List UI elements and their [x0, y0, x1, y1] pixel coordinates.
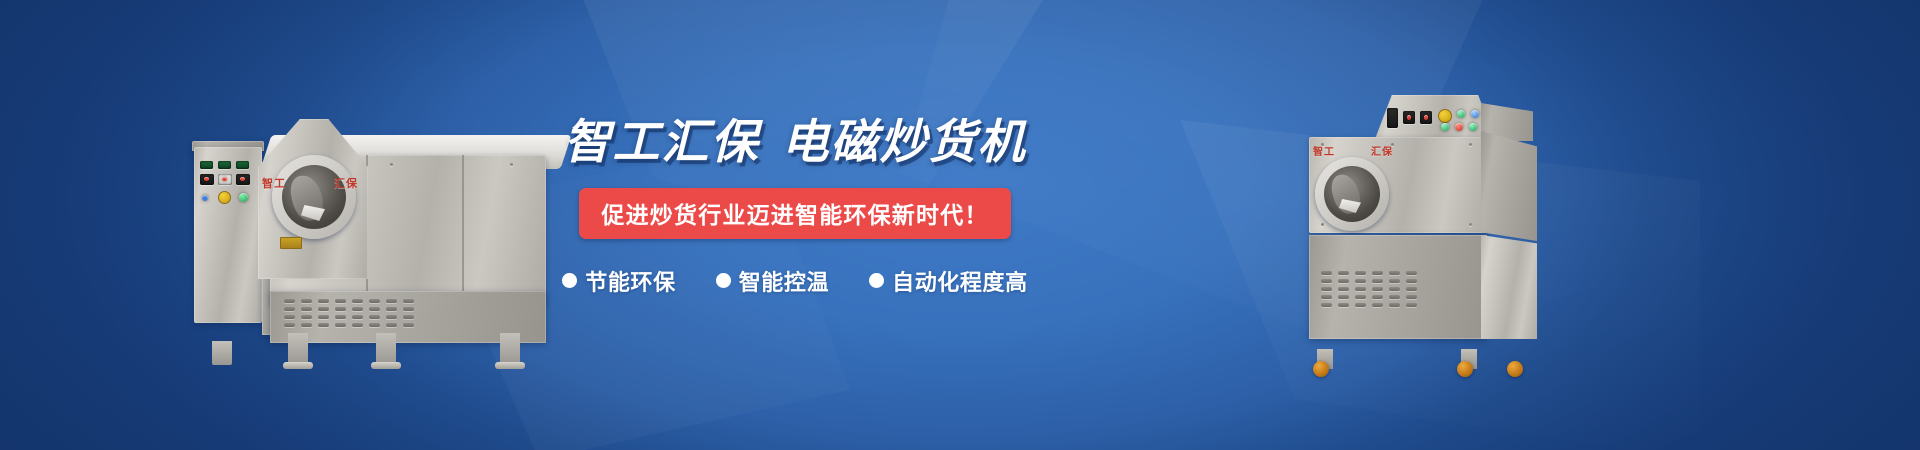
right-button-green-3[interactable]: [1469, 123, 1477, 131]
left-machine-nameplate: [280, 237, 302, 249]
left-meter-2-led: [222, 177, 227, 181]
slogan-row: 促进炒货行业迈进智能环保新时代！: [560, 188, 1030, 239]
right-button-blue-1[interactable]: [1471, 110, 1479, 118]
left-start-button[interactable]: [239, 193, 248, 202]
left-cabinet-leg: [212, 341, 232, 365]
right-display-1-led: [1407, 115, 1411, 120]
right-caster-1: [1313, 361, 1329, 377]
left-indicator-blue: [202, 195, 208, 201]
left-emergency-knob[interactable]: [218, 191, 231, 204]
left-leg-3: [500, 333, 520, 365]
left-meter-2: [218, 174, 232, 185]
slogan-pill: 促进炒货行业迈进智能环保新时代！: [579, 188, 1010, 239]
left-foot-3: [495, 362, 525, 369]
left-machine-brand-left: 智工: [262, 175, 286, 191]
feature-item-temperature: 智能控温: [716, 265, 829, 297]
right-caster-3: [1507, 361, 1523, 377]
left-control-cabinet: [194, 147, 262, 323]
headline-product: 电磁炒货机: [782, 115, 1027, 168]
left-vent-grille: [284, 299, 414, 327]
right-vent-grille: [1321, 271, 1417, 307]
headline-brand: 智工汇保: [564, 115, 760, 168]
left-foot-2: [371, 362, 401, 369]
left-machine-brand-right: 汇保: [334, 175, 358, 191]
banner-copy-block: 智工汇保电磁炒货机 促进炒货行业迈进智能环保新时代！ 节能环保 智能控温 自动化…: [560, 118, 1030, 297]
feature-label-energy: 节能环保: [585, 265, 675, 297]
left-meter-1: [200, 174, 214, 185]
product-image-left-roaster: 许昌智工 智工 汇保: [170, 95, 590, 365]
feature-list: 节能环保 智能控温 自动化程度高: [560, 265, 1030, 297]
feature-label-temperature: 智能控温: [739, 265, 829, 297]
right-button-green-2[interactable]: [1441, 123, 1449, 131]
right-lower-body-side: [1481, 235, 1537, 339]
bullet-dot-icon: [869, 273, 884, 288]
promo-banner: 许昌智工 智工 汇保: [0, 0, 1920, 450]
right-emergency-knob[interactable]: [1438, 109, 1452, 123]
product-image-right-roaster: 智工 汇保: [1275, 85, 1575, 375]
right-lower-body: [1309, 235, 1487, 339]
right-machine-brand-right: 汇保: [1371, 143, 1393, 158]
right-machine-brand-left: 智工: [1313, 143, 1335, 158]
right-button-red[interactable]: [1455, 123, 1463, 131]
left-readout-1: [200, 161, 213, 169]
right-display-2-led: [1424, 115, 1428, 120]
right-display-2: [1420, 111, 1432, 124]
left-readout-2: [218, 161, 231, 169]
left-meter-3: [236, 174, 250, 185]
feature-item-automation: 自动化程度高: [869, 265, 1028, 297]
bullet-dot-icon: [716, 273, 731, 288]
right-control-panel: [1385, 105, 1489, 133]
left-meter-1-led: [204, 177, 209, 181]
left-readout-3: [236, 161, 249, 169]
left-meter-3-led: [240, 177, 245, 181]
feature-item-energy: 节能环保: [562, 265, 675, 297]
left-foot-1: [283, 362, 313, 369]
left-leg-2: [376, 333, 396, 365]
bullet-dot-icon: [562, 273, 577, 288]
right-caster-2: [1457, 361, 1473, 377]
right-button-green-1[interactable]: [1457, 110, 1465, 118]
right-display-1: [1403, 111, 1415, 124]
right-display-main: [1387, 108, 1398, 128]
left-leg-1: [288, 333, 308, 365]
right-upper-body-side: [1481, 131, 1537, 241]
feature-label-automation: 自动化程度高: [892, 265, 1028, 297]
banner-headline: 智工汇保电磁炒货机: [560, 118, 1030, 167]
